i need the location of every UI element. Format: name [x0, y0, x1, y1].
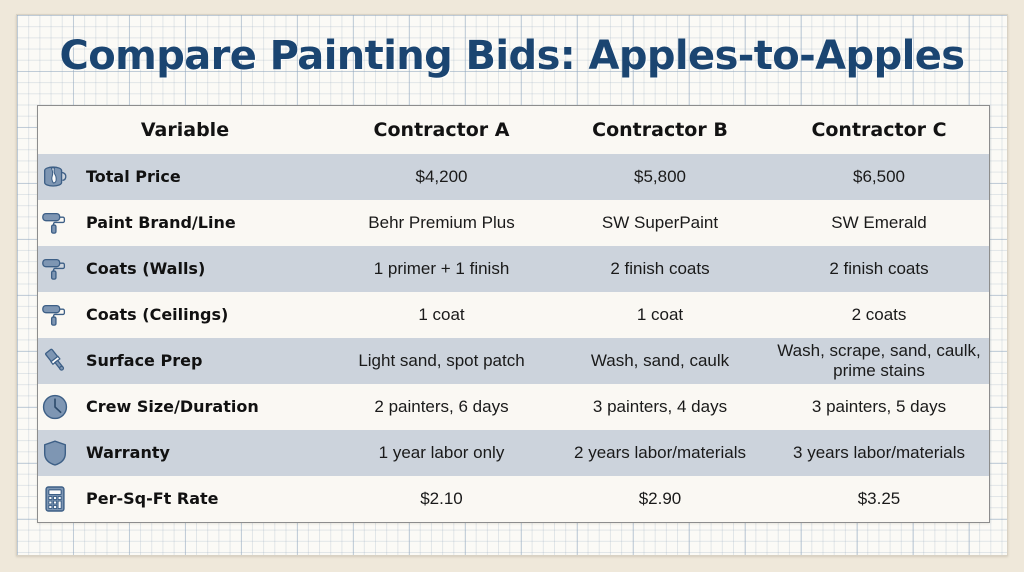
table-body: Total Price $4,200 $5,800 $6,500 [38, 154, 989, 522]
variable-label: Total Price [86, 168, 181, 186]
value-contractor-b: SW SuperPaint [551, 200, 769, 246]
table-header-row: Variable Contractor A Contractor B Contr… [38, 106, 989, 154]
page-title: Compare Painting Bids: Apples-to-Apples [17, 33, 1007, 79]
value-contractor-a: $2.10 [332, 476, 551, 522]
infographic-page: Compare Painting Bids: Apples-to-Apples … [0, 0, 1024, 572]
value-contractor-a: 2 painters, 6 days [332, 384, 551, 430]
column-header-contractor-c: Contractor C [769, 106, 989, 154]
variable-label: Coats (Walls) [86, 260, 205, 278]
value-contractor-b: Wash, sand, caulk [551, 338, 769, 384]
value-contractor-b: $2.90 [551, 476, 769, 522]
clock-icon [38, 390, 72, 424]
comparison-table-container: Variable Contractor A Contractor B Contr… [37, 105, 990, 523]
table-row: Coats (Ceilings) 1 coat 1 coat 2 coats [38, 292, 989, 338]
comparison-table: Variable Contractor A Contractor B Contr… [38, 106, 989, 522]
paint-roller-icon [38, 206, 72, 240]
value-contractor-a: Behr Premium Plus [332, 200, 551, 246]
paint-roller-icon [38, 252, 72, 286]
value-contractor-b: 1 coat [551, 292, 769, 338]
value-contractor-c: 2 coats [769, 292, 989, 338]
column-header-contractor-b: Contractor B [551, 106, 769, 154]
variable-label: Warranty [86, 444, 170, 462]
value-contractor-a: $4,200 [332, 154, 551, 200]
variable-cell: Total Price [38, 154, 332, 200]
value-contractor-c: 3 painters, 5 days [769, 384, 989, 430]
variable-label: Paint Brand/Line [86, 214, 236, 232]
table-row: Paint Brand/Line Behr Premium Plus SW Su… [38, 200, 989, 246]
paint-roller-icon [38, 298, 72, 332]
table-row: Coats (Walls) 1 primer + 1 finish 2 fini… [38, 246, 989, 292]
table-row: Warranty 1 year labor only 2 years labor… [38, 430, 989, 476]
variable-cell: Crew Size/Duration [38, 384, 332, 430]
variable-label: Coats (Ceilings) [86, 306, 228, 324]
graph-paper-canvas: Compare Painting Bids: Apples-to-Apples … [16, 14, 1008, 556]
table-row: Per-Sq-Ft Rate $2.10 $2.90 $3.25 [38, 476, 989, 522]
value-contractor-b: 2 years labor/materials [551, 430, 769, 476]
table-row: Total Price $4,200 $5,800 $6,500 [38, 154, 989, 200]
value-contractor-c: 2 finish coats [769, 246, 989, 292]
value-contractor-a: 1 primer + 1 finish [332, 246, 551, 292]
value-contractor-c: $3.25 [769, 476, 989, 522]
value-contractor-c: Wash, scrape, sand, caulk, prime stains [769, 338, 989, 384]
calculator-icon [38, 482, 72, 516]
value-contractor-c: $6,500 [769, 154, 989, 200]
paint-brush-icon [38, 344, 72, 378]
variable-cell: Surface Prep [38, 338, 332, 384]
variable-label: Crew Size/Duration [86, 398, 259, 416]
shield-icon [38, 436, 72, 470]
table-row: Crew Size/Duration 2 painters, 6 days 3 … [38, 384, 989, 430]
table-row: Surface Prep Light sand, spot patch Wash… [38, 338, 989, 384]
variable-cell: Paint Brand/Line [38, 200, 332, 246]
value-contractor-b: 3 painters, 4 days [551, 384, 769, 430]
value-contractor-a: Light sand, spot patch [332, 338, 551, 384]
value-contractor-a: 1 coat [332, 292, 551, 338]
value-contractor-a: 1 year labor only [332, 430, 551, 476]
table-header: Variable Contractor A Contractor B Contr… [38, 106, 989, 154]
variable-cell: Coats (Walls) [38, 246, 332, 292]
variable-cell: Warranty [38, 430, 332, 476]
value-contractor-c: 3 years labor/materials [769, 430, 989, 476]
variable-cell: Coats (Ceilings) [38, 292, 332, 338]
column-header-variable: Variable [38, 106, 332, 154]
variable-label: Per-Sq-Ft Rate [86, 490, 219, 508]
paint-can-icon [38, 160, 72, 194]
column-header-contractor-a: Contractor A [332, 106, 551, 154]
value-contractor-b: 2 finish coats [551, 246, 769, 292]
variable-label: Surface Prep [86, 352, 202, 370]
value-contractor-b: $5,800 [551, 154, 769, 200]
value-contractor-c: SW Emerald [769, 200, 989, 246]
variable-cell: Per-Sq-Ft Rate [38, 476, 332, 522]
